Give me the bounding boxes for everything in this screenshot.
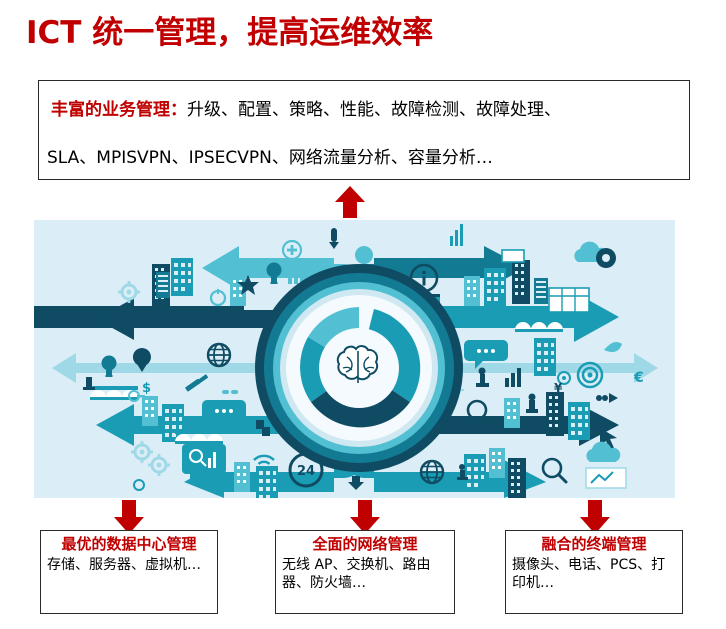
info-box-terminal: 融合的终端管理 摄像头、电话、PCS、打印机… bbox=[505, 530, 683, 614]
info-box-terminal-title: 融合的终端管理 bbox=[512, 535, 676, 554]
svg-text:$: $ bbox=[142, 381, 151, 396]
svg-text:¥: ¥ bbox=[554, 381, 563, 395]
description-line-1: 丰富的业务管理：升级、配置、策略、性能、故障检测、故障处理、 bbox=[51, 95, 561, 120]
info-box-network: 全面的网络管理 无线 AP、交换机、路由器、防火墙… bbox=[275, 530, 455, 614]
page-title: ICT 统一管理，提高运维效率 bbox=[26, 16, 433, 50]
info-box-datacenter-title: 最优的数据中心管理 bbox=[47, 535, 211, 554]
description-line-2: SLA、MPISVPN、IPSECVPN、网络流量分析、容量分析… bbox=[47, 143, 493, 168]
ict-network-illustration: $ 24 bbox=[34, 220, 675, 498]
info-box-datacenter-body: 存储、服务器、虚拟机… bbox=[47, 556, 211, 574]
svg-text:24: 24 bbox=[297, 464, 315, 479]
down-arrow-icon-datacenter bbox=[114, 500, 144, 534]
info-box-network-title: 全面的网络管理 bbox=[282, 535, 448, 554]
info-box-network-body: 无线 AP、交换机、路由器、防火墙… bbox=[282, 556, 448, 592]
up-arrow-icon bbox=[335, 186, 365, 218]
info-box-terminal-body: 摄像头、电话、PCS、打印机… bbox=[512, 556, 676, 592]
description-box: 丰富的业务管理：升级、配置、策略、性能、故障检测、故障处理、 SLA、MPISV… bbox=[38, 80, 690, 180]
info-box-datacenter: 最优的数据中心管理 存储、服务器、虚拟机… bbox=[40, 530, 218, 614]
svg-text:€: € bbox=[633, 370, 644, 386]
down-arrow-icon-terminal bbox=[580, 500, 610, 534]
description-lead-label: 丰富的业务管理： bbox=[51, 100, 187, 120]
down-arrow-icon-network bbox=[350, 500, 380, 534]
description-line-1-text: 升级、配置、策略、性能、故障检测、故障处理、 bbox=[187, 100, 561, 120]
